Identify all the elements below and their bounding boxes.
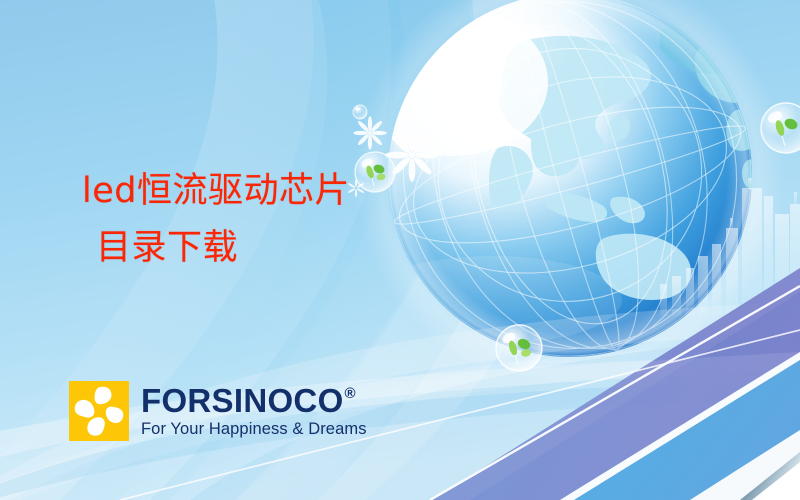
headline-line-1: led恒流驱动芯片 xyxy=(82,171,350,211)
flower-small xyxy=(347,179,364,197)
flower-decorations xyxy=(347,116,439,197)
bubble-plain-small xyxy=(353,105,367,119)
flower-medium xyxy=(353,116,386,149)
city-skyline-silhouette xyxy=(660,178,800,316)
registered-trademark-icon: ® xyxy=(345,386,356,401)
forsinoco-pinwheel-mark xyxy=(69,381,129,441)
bubble-decorations xyxy=(353,103,800,371)
bubble-leaf-lower xyxy=(496,325,542,371)
logo-wordmark: FORSINOCO ® xyxy=(141,384,367,418)
headline-text: led恒流驱动芯片 目录下载 xyxy=(82,163,350,277)
flower-large xyxy=(385,128,439,182)
bubble-leaf-right xyxy=(761,103,800,153)
logo-text-block: FORSINOCO ® For Your Happiness & Dreams xyxy=(141,384,367,439)
bubble-leaf-center xyxy=(355,152,395,192)
company-logo[interactable]: FORSINOCO ® For Your Happiness & Dreams xyxy=(69,381,367,441)
headline-line-2: 目录下载 xyxy=(82,220,350,277)
logo-tagline: For Your Happiness & Dreams xyxy=(141,419,367,439)
logo-wordmark-text: FORSINOCO xyxy=(141,384,344,418)
promo-banner: led恒流驱动芯片 目录下载 FORSINOCO ® For Your Happ… xyxy=(0,0,800,500)
earth-globe-graphic xyxy=(300,0,775,386)
pinwheel-petals-icon xyxy=(69,381,129,441)
